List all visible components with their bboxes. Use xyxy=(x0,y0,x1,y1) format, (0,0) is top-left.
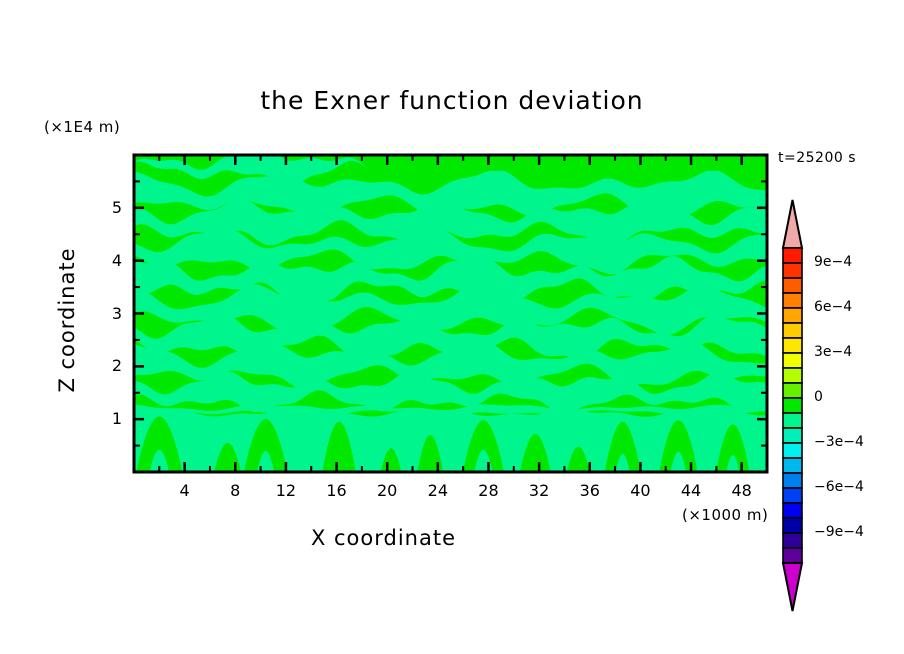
x-tick-label: 4 xyxy=(165,481,205,500)
x-tick-label: 48 xyxy=(722,481,762,500)
contour-plot[interactable] xyxy=(0,0,904,654)
y-tick-label: 1 xyxy=(86,409,122,428)
x-tick-label: 44 xyxy=(671,481,711,500)
x-tick-label: 20 xyxy=(367,481,407,500)
x-tick-label: 8 xyxy=(215,481,255,500)
y-tick-label: 3 xyxy=(86,304,122,323)
y-tick-label: 4 xyxy=(86,251,122,270)
x-tick-label: 28 xyxy=(468,481,508,500)
x-tick-label: 24 xyxy=(418,481,458,500)
colorbar-tick-label: −3e−4 xyxy=(814,434,864,450)
colorbar-tick-label: −9e−4 xyxy=(814,524,864,540)
x-tick-label: 40 xyxy=(620,481,660,500)
colorbar-tick-label: −6e−4 xyxy=(814,479,864,495)
colorbar-tick-label: 9e−4 xyxy=(814,254,852,270)
x-tick-label: 16 xyxy=(317,481,357,500)
colorbar-tick-label: 0 xyxy=(814,389,823,405)
colorbar-tick-label: 6e−4 xyxy=(814,299,852,315)
colorbar-tick-label: 3e−4 xyxy=(814,344,852,360)
colorbar[interactable] xyxy=(783,200,802,611)
y-tick-label: 5 xyxy=(86,198,122,217)
x-tick-label: 36 xyxy=(570,481,610,500)
x-tick-label: 12 xyxy=(266,481,306,500)
x-tick-label: 32 xyxy=(519,481,559,500)
y-tick-label: 2 xyxy=(86,356,122,375)
contour-field xyxy=(134,148,767,472)
